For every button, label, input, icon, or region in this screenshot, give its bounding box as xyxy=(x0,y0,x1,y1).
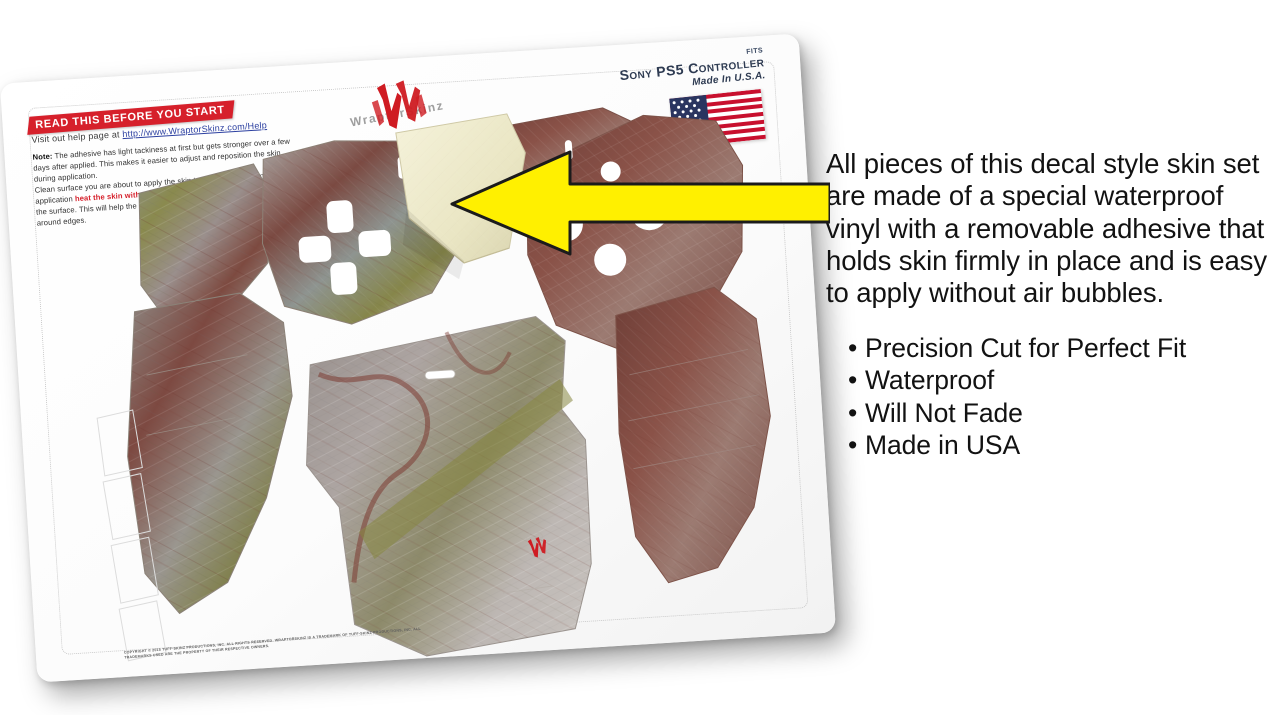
skin-piece-right-grip-panel xyxy=(610,284,780,585)
marketing-copy: All pieces of this decal style skin set … xyxy=(826,148,1274,462)
feature-bullet: Precision Cut for Perfect Fit xyxy=(848,332,1274,365)
skin-sheet: READ THIS BEFORE YOU START Visit out hel… xyxy=(0,33,836,682)
feature-bullet: Will Not Fade xyxy=(848,397,1274,430)
skin-pieces-layer xyxy=(0,33,836,682)
product-photo-canvas: READ THIS BEFORE YOU START Visit out hel… xyxy=(0,0,1280,715)
peel-corner-arrow xyxy=(438,148,830,258)
skin-piece-left-lower-grip xyxy=(118,290,306,616)
marketing-paragraph: All pieces of this decal style skin set … xyxy=(826,148,1274,310)
feature-bullet: Made in USA xyxy=(848,429,1274,462)
skin-piece-center-touchpad-panel xyxy=(298,314,598,663)
skin-piece-left-grip-panel xyxy=(134,163,277,319)
feature-bullet: Waterproof xyxy=(848,364,1274,397)
feature-bullet-list: Precision Cut for Perfect Fit Waterproof… xyxy=(848,332,1274,462)
